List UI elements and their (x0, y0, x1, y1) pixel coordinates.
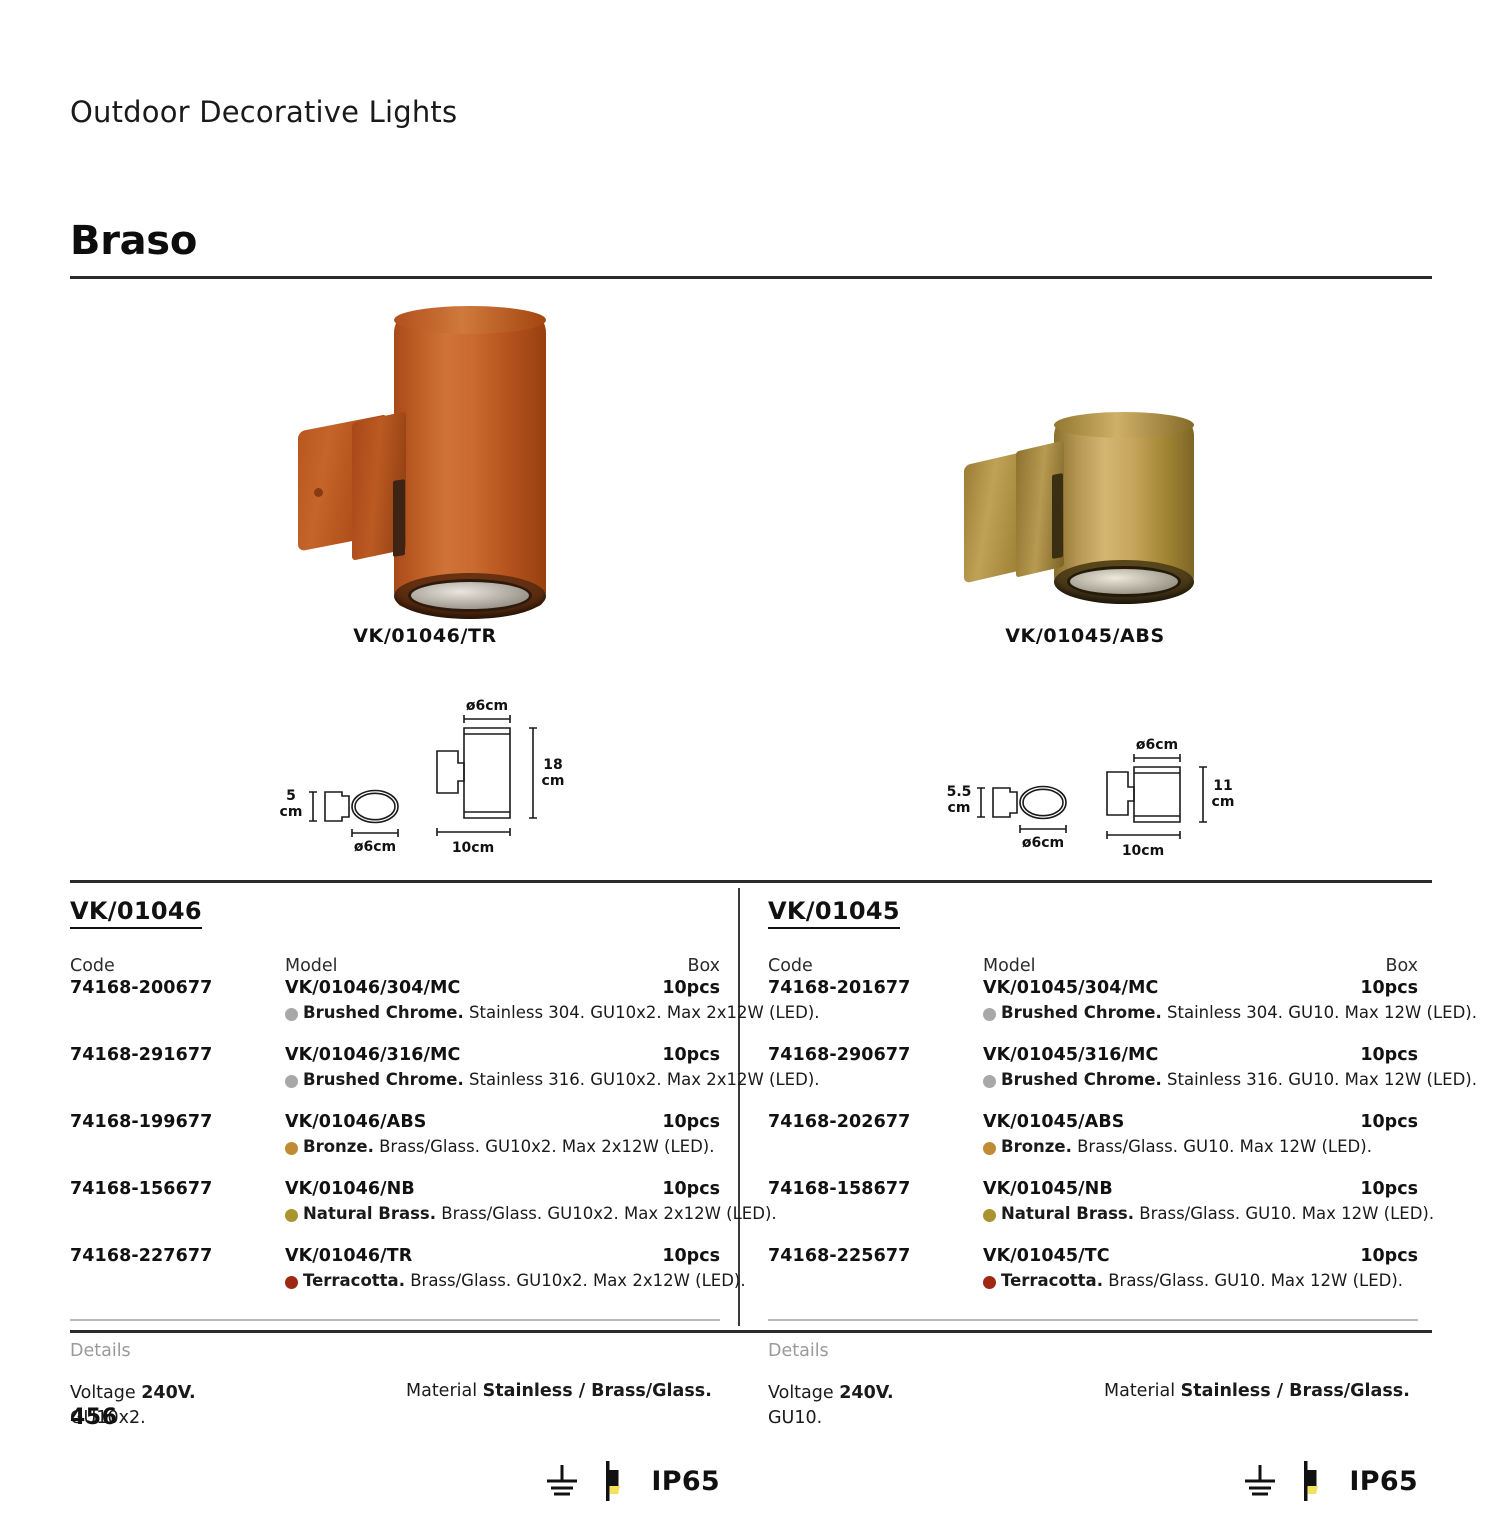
page-title: Braso (70, 218, 197, 264)
footer-divider (70, 1330, 1432, 1333)
row-code: 74168-200677 (70, 978, 212, 998)
row-description: Natural Brass. Brass/Glass. GU10. Max 12… (1001, 1204, 1434, 1223)
row-code: 74168-201677 (768, 978, 910, 998)
spec-table-01046: VK/01046 Code Model Box 74168-200677 VK/… (70, 898, 720, 1515)
row-box: 10pcs (662, 978, 720, 998)
color-swatch (983, 1209, 996, 1222)
row-box: 10pcs (1360, 1112, 1418, 1132)
material-info: Material Stainless / Brass/Glass. (406, 1381, 712, 1401)
row-description: Brushed Chrome. Stainless 316. GU10x2. M… (303, 1070, 820, 1089)
lamp-top-cap (1054, 412, 1194, 438)
dimension-diagram-01046: 5 cm ø6cm ø6cm 18 cm 10cm (265, 690, 585, 860)
material-label: Material (406, 1381, 483, 1401)
product-caption-01046: VK/01046/TR (290, 625, 560, 647)
row-model: VK/01045/TC (983, 1246, 1110, 1266)
color-swatch (983, 1276, 996, 1289)
row-finish: Bronze. (303, 1137, 374, 1156)
row-code: 74168-158677 (768, 1179, 910, 1199)
dim-front-diameter: ø6cm (1136, 737, 1178, 753)
lamp-screw (314, 488, 323, 497)
material-value: Stainless / Brass/Glass. (1181, 1381, 1410, 1401)
earth-ground-icon (539, 1461, 585, 1501)
row-spec: Brass/Glass. GU10. Max 12W (LED). (1139, 1204, 1434, 1223)
lamp-bracket-shadow (1052, 473, 1063, 559)
dim-front-height: 11 (1213, 778, 1232, 794)
row-model: VK/01046/316/MC (285, 1045, 460, 1065)
table-header-row: Code Model Box (70, 956, 720, 978)
dim-front-width: 10cm (452, 840, 494, 856)
row-spec: Stainless 316. GU10x2. Max 2x12W (LED). (469, 1070, 819, 1089)
row-box: 10pcs (1360, 1179, 1418, 1199)
details-body: Voltage 240V. GU10x2. Material Stainless… (70, 1381, 720, 1441)
dim-side-diameter: ø6cm (354, 839, 396, 855)
voltage-info: Voltage 240V. GU10. (768, 1381, 894, 1431)
row-spec: Stainless 304. GU10x2. Max 2x12W (LED). (469, 1003, 819, 1022)
row-description: Brushed Chrome. Stainless 316. GU10. Max… (1001, 1070, 1477, 1089)
material-info: Material Stainless / Brass/Glass. (1104, 1381, 1410, 1401)
lamp-top-cap (394, 306, 546, 334)
tables-top-divider (70, 880, 1432, 883)
dimension-diagram-01045: 5.5 cm ø6cm ø6cm 11 cm 10cm (935, 725, 1255, 860)
table-header-row: Code Model Box (768, 956, 1418, 978)
series-code-link[interactable]: VK/01045 (768, 898, 900, 929)
series-code-link[interactable]: VK/01046 (70, 898, 202, 929)
table-row[interactable]: 74168-202677 VK/01045/ABS 10pcs Bronze. … (768, 1112, 1418, 1179)
row-spec: Stainless 316. GU10. Max 12W (LED). (1167, 1070, 1477, 1089)
column-divider (738, 888, 740, 1326)
row-finish: Natural Brass. (303, 1204, 436, 1223)
dim-side-depth-unit: cm (280, 804, 303, 820)
row-model: VK/01045/304/MC (983, 978, 1158, 998)
lamp-lens (1067, 566, 1181, 597)
row-box: 10pcs (662, 1045, 720, 1065)
row-finish: Brushed Chrome. (1001, 1070, 1162, 1089)
row-description: Terracotta. Brass/Glass. GU10. Max 12W (… (1001, 1271, 1403, 1290)
row-box: 10pcs (1360, 1246, 1418, 1266)
details-label: Details (768, 1341, 1418, 1361)
row-finish: Bronze. (1001, 1137, 1072, 1156)
color-swatch (983, 1142, 996, 1155)
color-swatch (285, 1276, 298, 1289)
row-description: Brushed Chrome. Stainless 304. GU10. Max… (1001, 1003, 1477, 1022)
dim-front-height-unit: cm (542, 773, 565, 789)
dim-side-diameter: ø6cm (1022, 835, 1064, 851)
row-description: Terracotta. Brass/Glass. GU10x2. Max 2x1… (303, 1271, 746, 1290)
row-box: 10pcs (662, 1179, 720, 1199)
color-swatch (983, 1008, 996, 1021)
lamp-bracket-shadow (393, 479, 405, 557)
row-code: 74168-202677 (768, 1112, 910, 1132)
color-swatch (285, 1209, 298, 1222)
row-spec: Brass/Glass. GU10x2. Max 2x12W (LED). (410, 1271, 745, 1290)
column-header-code: Code (70, 956, 115, 976)
dim-front-height: 18 (543, 757, 562, 773)
table-row[interactable]: 74168-158677 VK/01045/NB 10pcs Natural B… (768, 1179, 1418, 1246)
row-description: Natural Brass. Brass/Glass. GU10x2. Max … (303, 1204, 777, 1223)
row-code: 74168-225677 (768, 1246, 910, 1266)
color-swatch (285, 1142, 298, 1155)
table-row[interactable]: 74168-225677 VK/01045/TC 10pcs Terracott… (768, 1246, 1418, 1313)
column-header-box: Box (1385, 956, 1418, 976)
row-model: VK/01045/ABS (983, 1112, 1124, 1132)
row-code: 74168-227677 (70, 1246, 212, 1266)
row-finish: Terracotta. (1001, 1271, 1103, 1290)
dim-front-height-unit: cm (1212, 794, 1235, 810)
row-finish: Brushed Chrome. (303, 1003, 464, 1022)
color-swatch (983, 1075, 996, 1088)
product-photo-terracotta (290, 305, 560, 625)
column-header-box: Box (687, 956, 720, 976)
row-model: VK/01046/TR (285, 1246, 412, 1266)
table-row[interactable]: 74168-291677 VK/01046/316/MC 10pcs Brush… (70, 1045, 720, 1112)
color-swatch (285, 1075, 298, 1088)
table-row[interactable]: 74168-199677 VK/01046/ABS 10pcs Bronze. … (70, 1112, 720, 1179)
table-row[interactable]: 74168-156677 VK/01046/NB 10pcs Natural B… (70, 1179, 720, 1246)
page-category: Outdoor Decorative Lights (70, 95, 457, 129)
details-divider (768, 1319, 1418, 1321)
voltage-value: 240V. (141, 1383, 195, 1403)
row-model: VK/01046/ABS (285, 1112, 426, 1132)
row-finish: Brushed Chrome. (303, 1070, 464, 1089)
material-label: Material (1104, 1381, 1181, 1401)
row-finish: Natural Brass. (1001, 1204, 1134, 1223)
table-row[interactable]: 74168-200677 VK/01046/304/MC 10pcs Brush… (70, 978, 720, 1045)
row-model: VK/01046/NB (285, 1179, 415, 1199)
row-description: Bronze. Brass/Glass. GU10x2. Max 2x12W (… (303, 1137, 714, 1156)
row-code: 74168-290677 (768, 1045, 910, 1065)
rating-icon-row: IP65 (768, 1459, 1418, 1515)
row-model: VK/01045/NB (983, 1179, 1113, 1199)
row-spec: Brass/Glass. GU10x2. Max 2x12W (LED). (441, 1204, 776, 1223)
table-row[interactable]: 74168-201677 VK/01045/304/MC 10pcs Brush… (768, 978, 1418, 1045)
column-header-code: Code (768, 956, 813, 976)
lamp-body (394, 317, 546, 607)
page-number: 456 (70, 1405, 117, 1430)
row-code: 74168-291677 (70, 1045, 212, 1065)
row-code: 74168-156677 (70, 1179, 212, 1199)
product-caption-01045: VK/01045/ABS (960, 625, 1210, 647)
wall-light-icon (601, 1459, 627, 1503)
dim-side-depth-unit: cm (948, 800, 971, 816)
ip-rating-label: IP65 (651, 1466, 720, 1497)
row-model: VK/01046/304/MC (285, 978, 460, 998)
row-spec: Brass/Glass. GU10. Max 12W (LED). (1108, 1271, 1403, 1290)
row-box: 10pcs (662, 1246, 720, 1266)
row-description: Brushed Chrome. Stainless 304. GU10x2. M… (303, 1003, 820, 1022)
lamp-lens (408, 579, 532, 612)
table-row[interactable]: 74168-227677 VK/01046/TR 10pcs Terracott… (70, 1246, 720, 1313)
dim-side-depth: 5 (286, 788, 296, 804)
details-label: Details (70, 1341, 720, 1361)
wall-light-icon (1299, 1459, 1325, 1503)
color-swatch (285, 1008, 298, 1021)
row-description: Bronze. Brass/Glass. GU10. Max 12W (LED)… (1001, 1137, 1372, 1156)
ip-rating-label: IP65 (1349, 1466, 1418, 1497)
dim-front-width: 10cm (1122, 843, 1164, 859)
row-box: 10pcs (1360, 978, 1418, 998)
earth-ground-icon (1237, 1461, 1283, 1501)
row-code: 74168-199677 (70, 1112, 212, 1132)
rating-icon-row: IP65 (70, 1459, 720, 1515)
row-finish: Brushed Chrome. (1001, 1003, 1162, 1022)
spec-table-01045: VK/01045 Code Model Box 74168-201677 VK/… (768, 898, 1418, 1515)
voltage-label: Voltage (768, 1383, 839, 1403)
row-finish: Terracotta. (303, 1271, 405, 1290)
product-photo-brass (960, 412, 1210, 612)
dim-side-depth: 5.5 (947, 784, 972, 800)
table-row[interactable]: 74168-290677 VK/01045/316/MC 10pcs Brush… (768, 1045, 1418, 1112)
row-box: 10pcs (1360, 1045, 1418, 1065)
dim-front-diameter: ø6cm (466, 698, 508, 714)
details-body: Voltage 240V. GU10. Material Stainless /… (768, 1381, 1418, 1441)
row-box: 10pcs (662, 1112, 720, 1132)
row-spec: Brass/Glass. GU10. Max 12W (LED). (1077, 1137, 1372, 1156)
column-header-model: Model (285, 956, 338, 976)
lamp-type: GU10. (768, 1408, 822, 1428)
column-header-model: Model (983, 956, 1036, 976)
header-divider (70, 276, 1432, 279)
details-divider (70, 1319, 720, 1321)
row-spec: Brass/Glass. GU10x2. Max 2x12W (LED). (379, 1137, 714, 1156)
row-model: VK/01045/316/MC (983, 1045, 1158, 1065)
row-spec: Stainless 304. GU10. Max 12W (LED). (1167, 1003, 1477, 1022)
voltage-label: Voltage (70, 1383, 141, 1403)
voltage-value: 240V. (839, 1383, 893, 1403)
material-value: Stainless / Brass/Glass. (483, 1381, 712, 1401)
